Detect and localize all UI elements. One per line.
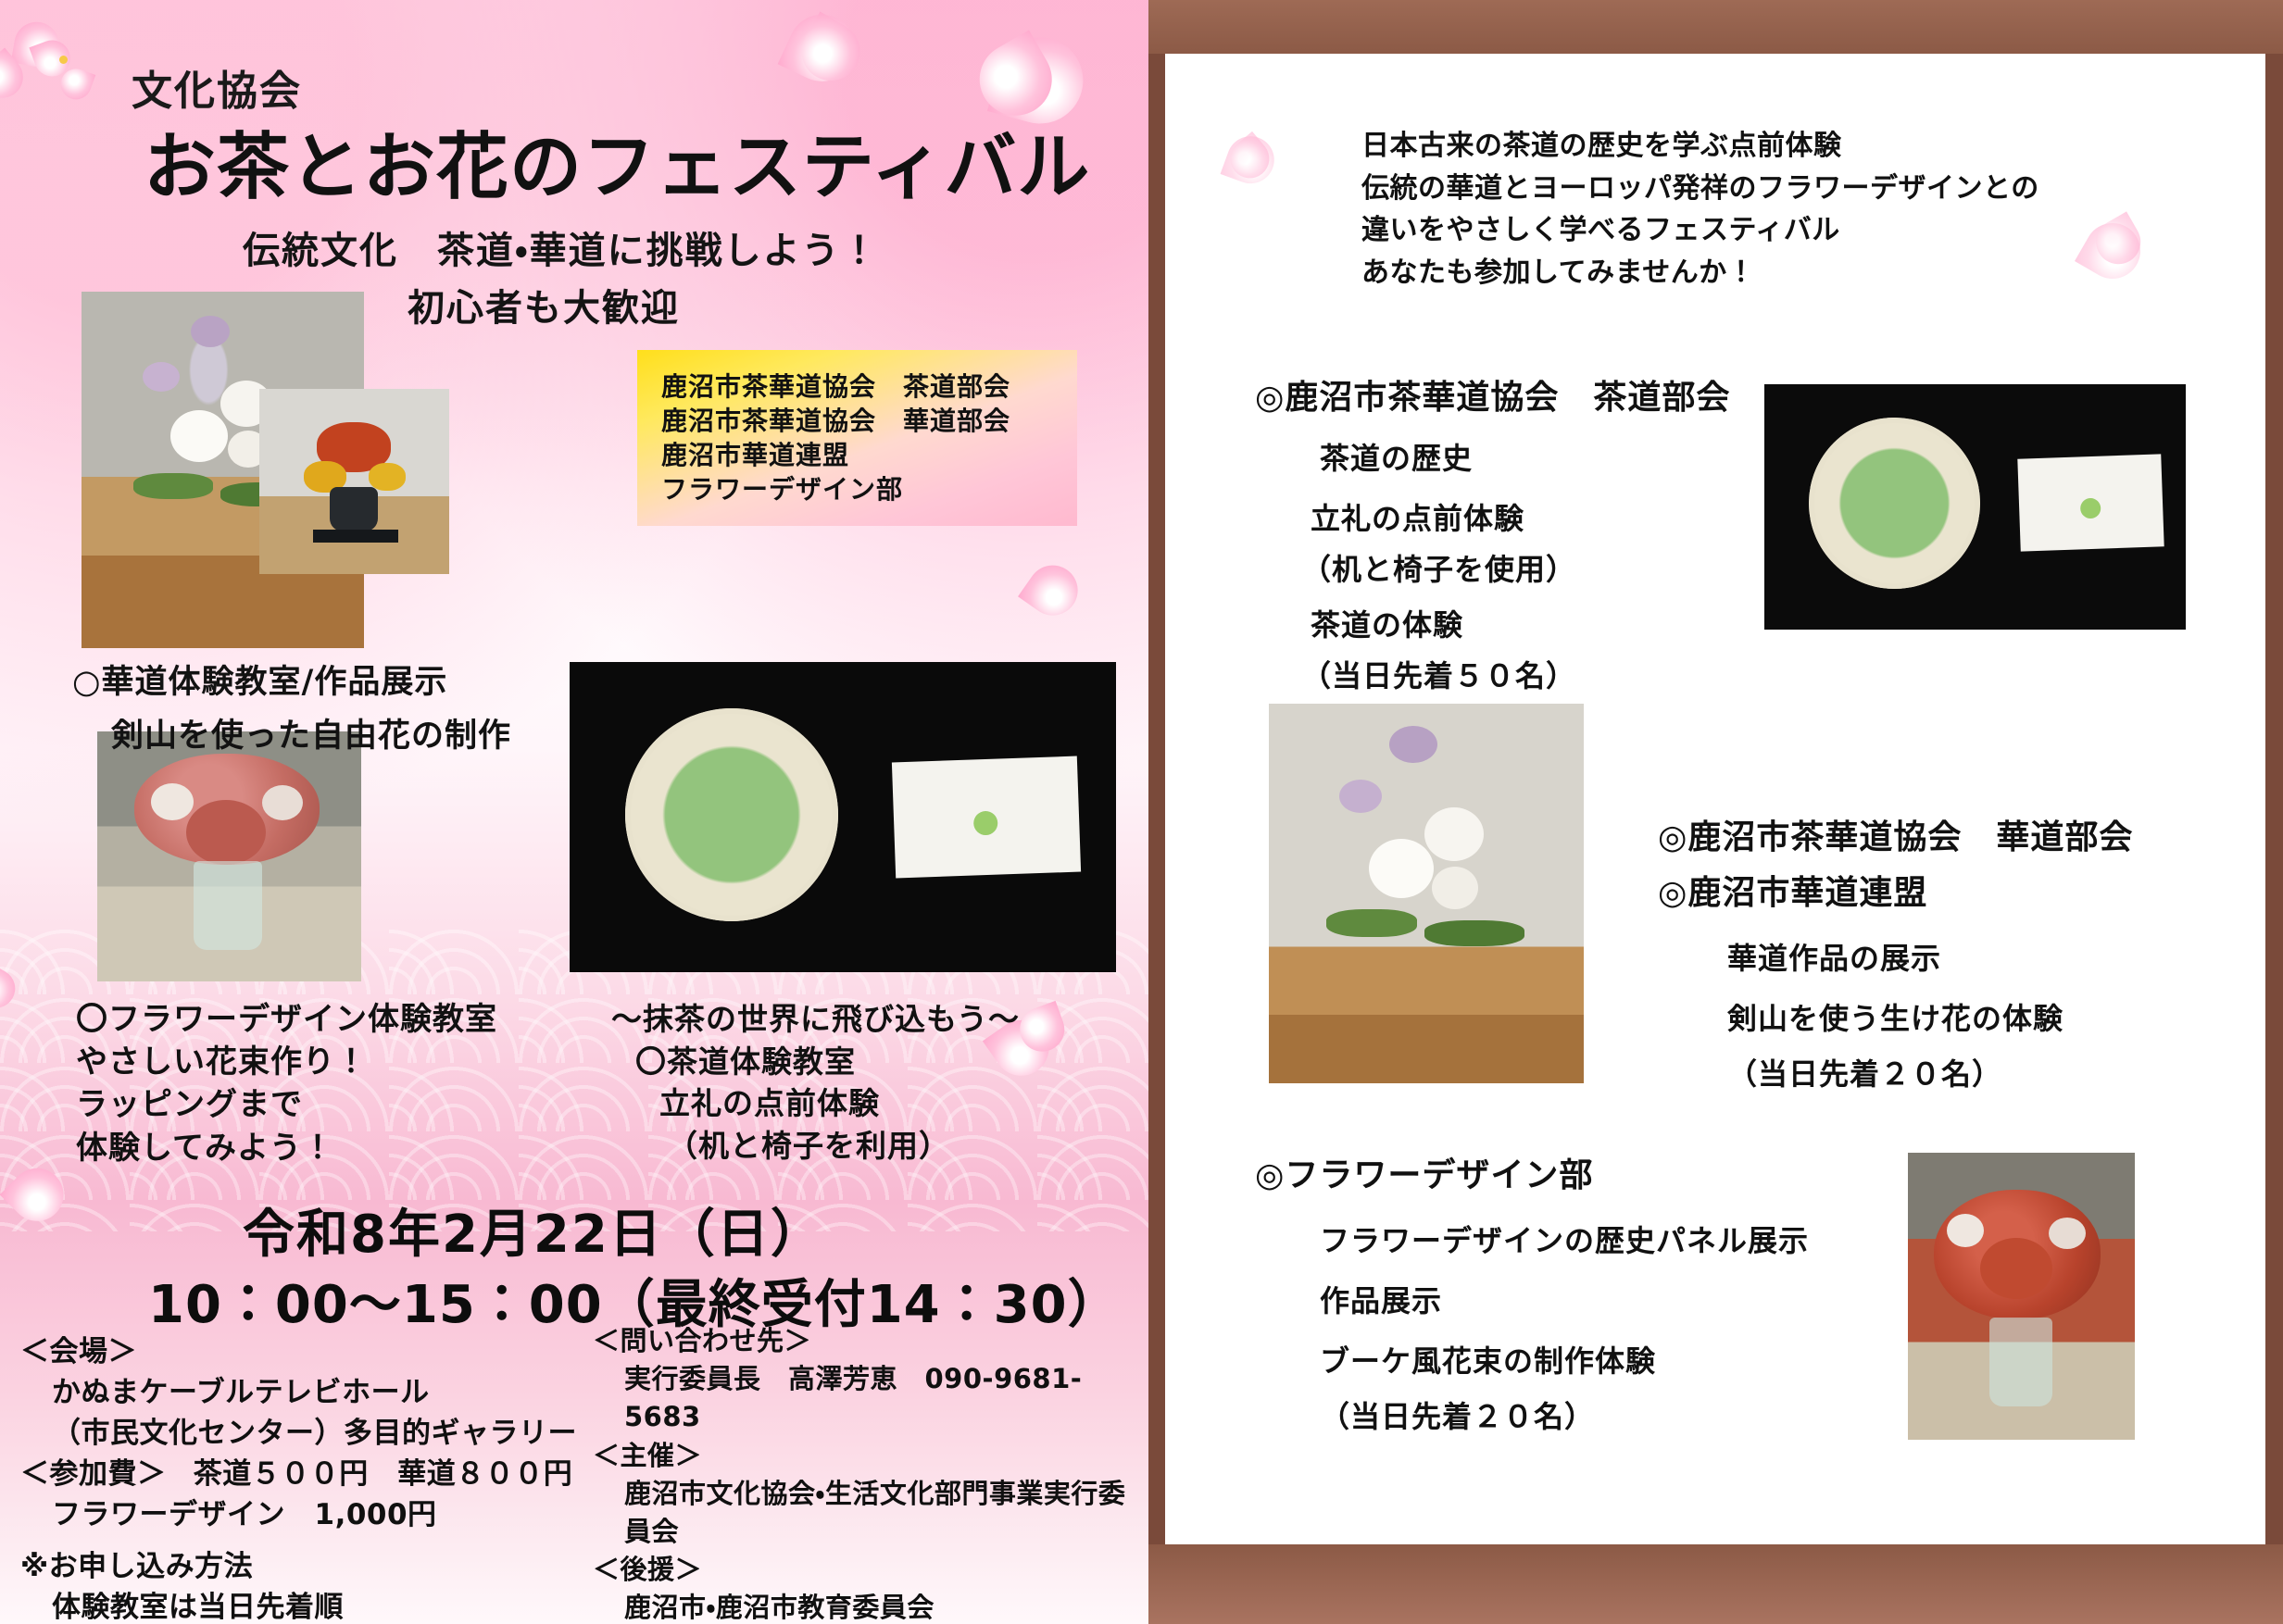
association-label: 文化協会 [132, 57, 302, 117]
flower-design-line: 〇フラワーデザイン体験教室 [76, 998, 497, 1041]
flower-item: フラワーデザインの歴史パネル展示 [1320, 1218, 1809, 1260]
venue-detail: （市民文化センター）多目的ギャラリー [20, 1413, 577, 1454]
intro-line: 日本古来の茶道の歴史を学ぶ点前体験 [1361, 125, 2039, 168]
page-frame-top [1148, 0, 2283, 54]
tea-line: 〜抹茶の世界に飛び込もう〜 [611, 998, 1020, 1041]
support-label: ＜後援＞ [593, 1551, 1148, 1589]
host-label: ＜主催＞ [593, 1437, 1148, 1475]
photo-bouquet-right [1908, 1153, 2135, 1440]
subtitle-primary: 伝統文化 茶道・華道に挑戦しよう！ [243, 220, 880, 274]
kado-item: 華道作品の展示 [1727, 935, 1941, 978]
kado-section-detail: 剣山を使った自由花の制作 [111, 709, 511, 756]
tea-item: 茶道の歴史 [1320, 435, 1473, 478]
tea-section-heading: ◎鹿沼市茶華道協会 茶道部会 [1255, 370, 1730, 418]
apply-detail: 体験教室は当日先着順 [20, 1587, 577, 1624]
intro-line: 伝統の華道とヨーロッパ発祥のフラワーデザインとの [1361, 168, 2039, 210]
flower-design-line: 体験してみよう！ [76, 1127, 497, 1169]
page-frame-bottom [1148, 1544, 2283, 1624]
page-title: お茶とお花のフェスティバル [144, 109, 1090, 213]
flower-design-section: 〇フラワーデザイン体験教室 やさしい花束作り！ ラッピングまで 体験してみよう！ [76, 998, 497, 1169]
kado-item: 剣山を使う生け花の体験 [1727, 995, 2063, 1038]
kado-item: （当日先着２０名） [1727, 1051, 2002, 1093]
tea-line: 立礼の点前体験 [611, 1082, 1020, 1125]
kado-section-title: ○華道体験教室/作品展示 [72, 656, 447, 703]
photo-matcha-bowl-and-sweet [570, 662, 1116, 972]
left-page: 文化協会 お茶とお花のフェスティバル 伝統文化 茶道・華道に挑戦しよう！ 初心者… [0, 0, 1148, 1624]
flower-item: ブーケ風花束の制作体験 [1320, 1338, 1656, 1380]
event-date: 令和8年2月22日（日） [243, 1193, 824, 1268]
org-line: 鹿沼市茶華道協会 華道部会 [661, 405, 1010, 439]
contact-label: ＜問い合わせ先＞ [593, 1322, 1148, 1360]
tea-section: 〜抹茶の世界に飛び込もう〜 〇茶道体験教室 立礼の点前体験 （机と椅子を利用） [611, 998, 1020, 1167]
venue-label: ＜会場＞ [20, 1331, 577, 1372]
flower-section-heading: ◎フラワーデザイン部 [1255, 1148, 1593, 1196]
matcha-bowl [625, 708, 838, 921]
photo-bouquet-pink-roses [97, 731, 361, 981]
matcha-bowl [1809, 418, 1980, 589]
flower-design-line: ラッピングまで [76, 1083, 497, 1126]
tea-line: （机と椅子を利用） [611, 1125, 1020, 1168]
flower-item: （当日先着２０名） [1320, 1393, 1595, 1436]
photo-ikebana-right [1269, 704, 1584, 1083]
kado-section-heading-1: ◎鹿沼市茶華道協会 華道部会 [1658, 810, 2133, 858]
fee-label: ＜参加費＞ [20, 1457, 167, 1491]
host-detail: 鹿沼市文化協会・生活文化部門事業実行委員会 [593, 1475, 1148, 1551]
support-line: 鹿沼市・鹿沼市教育委員会 [593, 1589, 1148, 1624]
venue-name: かぬまケーブルテレビホール [20, 1372, 577, 1413]
tea-item: 立礼の点前体験 [1311, 495, 1524, 538]
contact-detail: 実行委員長 高澤芳恵 090-9681-5683 [593, 1360, 1148, 1436]
org-line: 鹿沼市茶華道協会 茶道部会 [661, 370, 1010, 405]
flyer-spread: 文化協会 お茶とお花のフェスティバル 伝統文化 茶道・華道に挑戦しよう！ 初心者… [0, 0, 2283, 1624]
apply-label: ※お申し込み方法 [20, 1546, 577, 1587]
fee-amount-flower: フラワーデザイン 1,000円 [20, 1494, 577, 1535]
contact-and-host-block: ＜問い合わせ先＞ 実行委員長 高澤芳恵 090-9681-5683 ＜主催＞ 鹿… [593, 1322, 1148, 1624]
flower-design-line: やさしい花束作り！ [76, 1041, 497, 1083]
fee-amount-tea-kado: 茶道５００円 華道８００円 [177, 1457, 573, 1491]
venue-and-fee-block: ＜会場＞ かぬまケーブルテレビホール （市民文化センター）多目的ギャラリー ＜参… [20, 1331, 577, 1624]
kado-section-heading-2: ◎鹿沼市華道連盟 [1658, 866, 1927, 914]
intro-line: 違いをやさしく学べるフェスティバル [1361, 209, 2039, 252]
subtitle-secondary: 初心者も大歓迎 [408, 278, 680, 331]
paper-napkin-with-sweet [892, 756, 1081, 879]
right-intro-paragraph: 日本古来の茶道の歴史を学ぶ点前体験 伝統の華道とヨーロッパ発祥のフラワーデザイン… [1361, 125, 2039, 294]
org-line: 鹿沼市華道連盟 [661, 439, 1010, 473]
intro-line: あなたも参加してみませんか！ [1361, 252, 2039, 294]
fee-label-row: ＜参加費＞ 茶道５００円 華道８００円 [20, 1454, 577, 1494]
tea-line: 〇茶道体験教室 [611, 1041, 1020, 1083]
tea-item: 茶道の体験 [1311, 602, 1463, 644]
photo-ikebana-exhibition [259, 389, 449, 574]
paper-napkin-with-sweet [2017, 454, 2164, 551]
flower-item: 作品展示 [1320, 1278, 1442, 1320]
tea-item: （机と椅子を使用） [1301, 546, 1576, 589]
photo-matcha-bowl-right [1764, 384, 2186, 630]
organizations-box: 鹿沼市茶華道協会 茶道部会 鹿沼市茶華道協会 華道部会 鹿沼市華道連盟 フラワー… [637, 350, 1077, 526]
tea-item: （当日先着５０名） [1301, 653, 1576, 695]
org-line: フラワーデザイン部 [661, 473, 1010, 507]
